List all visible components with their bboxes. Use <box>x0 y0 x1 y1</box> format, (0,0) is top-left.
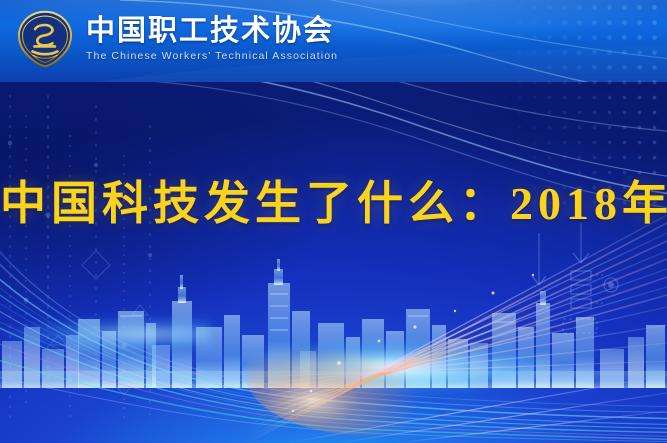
speed-light-trails-right <box>247 215 667 443</box>
organization-name-cn: 中国职工技术协会 <box>86 16 338 46</box>
banner-title: 中国科技发生了什么：2018年 <box>0 175 667 233</box>
association-shield-logo-icon <box>14 8 76 70</box>
organization-name-en: The Chinese Workers' Technical Associati… <box>86 51 338 62</box>
brand-text-block: 中国职工技术协会 The Chinese Workers' Technical … <box>86 16 338 62</box>
brand-lockup: 中国职工技术协会 The Chinese Workers' Technical … <box>14 8 338 70</box>
banner-image: 中国职工技术协会 The Chinese Workers' Technical … <box>0 0 667 443</box>
site-header-band: 中国职工技术协会 The Chinese Workers' Technical … <box>0 0 667 82</box>
